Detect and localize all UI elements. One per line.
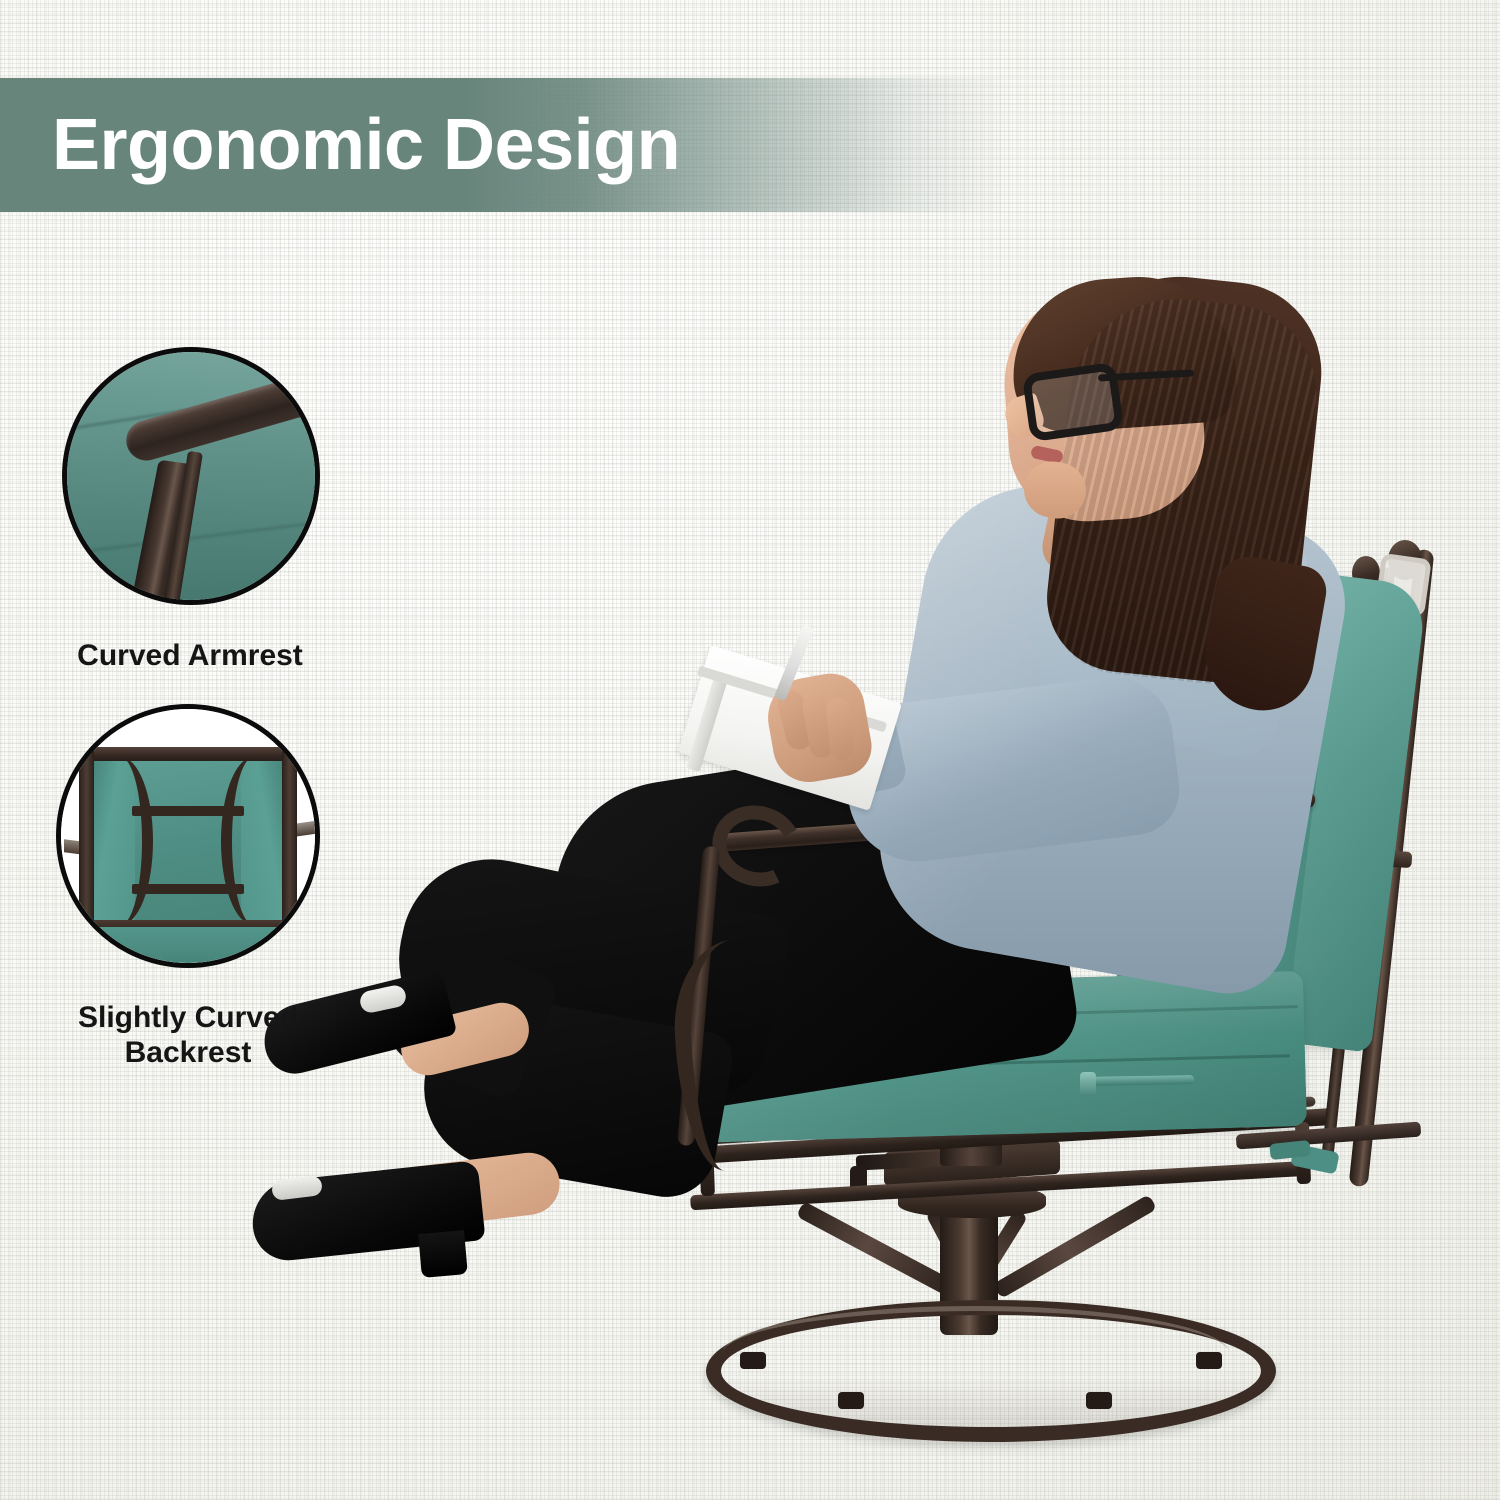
base-ring-highlight [722,1306,1230,1403]
backrest-detail-post-left [79,742,94,935]
backrest-detail-post-right [282,742,297,935]
callout-label-armrest: Curved Armrest [20,638,360,673]
callout-circle-backrest [56,704,320,968]
base-foot [838,1392,864,1409]
product-marketing-image: Ergonomic Design Curved Armrest [0,0,1500,1500]
backrest-detail-finial-left [81,736,94,749]
shoe-heel [418,1230,468,1278]
page-title: Ergonomic Design [52,109,680,181]
backrest-detail-rail-lower [132,884,244,894]
cushion-zipper-pull [1080,1072,1096,1096]
base-foot [740,1352,766,1369]
title-banner: Ergonomic Design [0,78,1010,212]
callout-circle-armrest [62,347,320,605]
cushion-zipper [1086,1075,1194,1086]
base-foot [1196,1352,1222,1369]
backrest-detail-frame-top [79,747,297,761]
callout-label-backrest: Slightly Curved Backrest [18,1000,358,1071]
backrest-detail-seat [86,927,284,963]
backrest-detail-finial-right [279,736,292,749]
base-foot [1086,1392,1112,1409]
callout-label-backrest-line2: Backrest [18,1035,358,1070]
backrest-detail-rail-upper [132,806,244,816]
callout-label-backrest-line1: Slightly Curved [18,1000,358,1035]
